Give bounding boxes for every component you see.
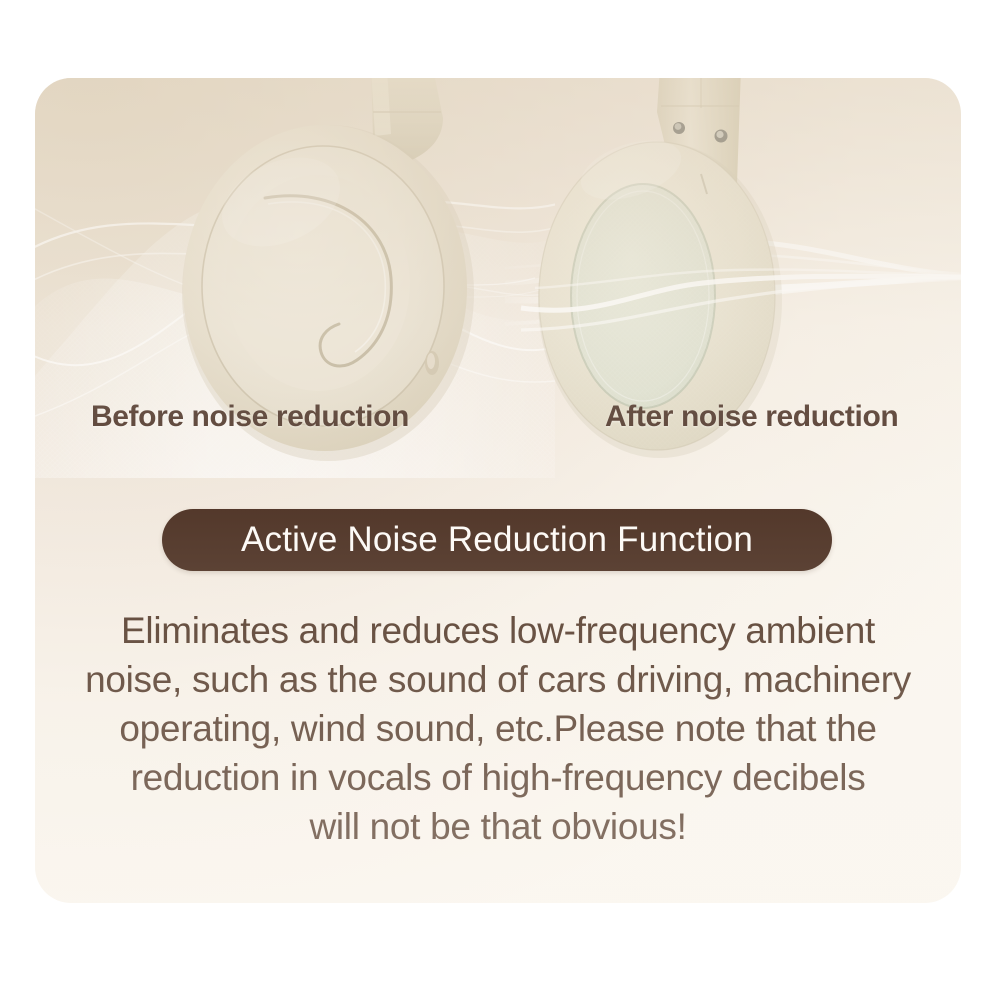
- before-noise-reduction-label: Before noise reduction: [91, 400, 409, 434]
- feature-description: Eliminates and reduces low-frequency amb…: [53, 606, 943, 851]
- feature-headline-pill: Active Noise Reduction Function: [162, 509, 832, 571]
- description-line: reduction in vocals of high-frequency de…: [53, 753, 943, 802]
- after-noise-reduction-label: After noise reduction: [605, 400, 898, 434]
- description-line: noise, such as the sound of cars driving…: [53, 655, 943, 704]
- description-line: will not be that obvious!: [53, 802, 943, 851]
- feature-headline-text: Active Noise Reduction Function: [241, 520, 753, 560]
- description-line: operating, wind sound, etc.Please note t…: [53, 704, 943, 753]
- screenshot-canvas: Before noise reduction After noise reduc…: [0, 0, 1000, 1000]
- description-line: Eliminates and reduces low-frequency amb…: [53, 606, 943, 655]
- product-feature-card: Before noise reduction After noise reduc…: [35, 78, 961, 903]
